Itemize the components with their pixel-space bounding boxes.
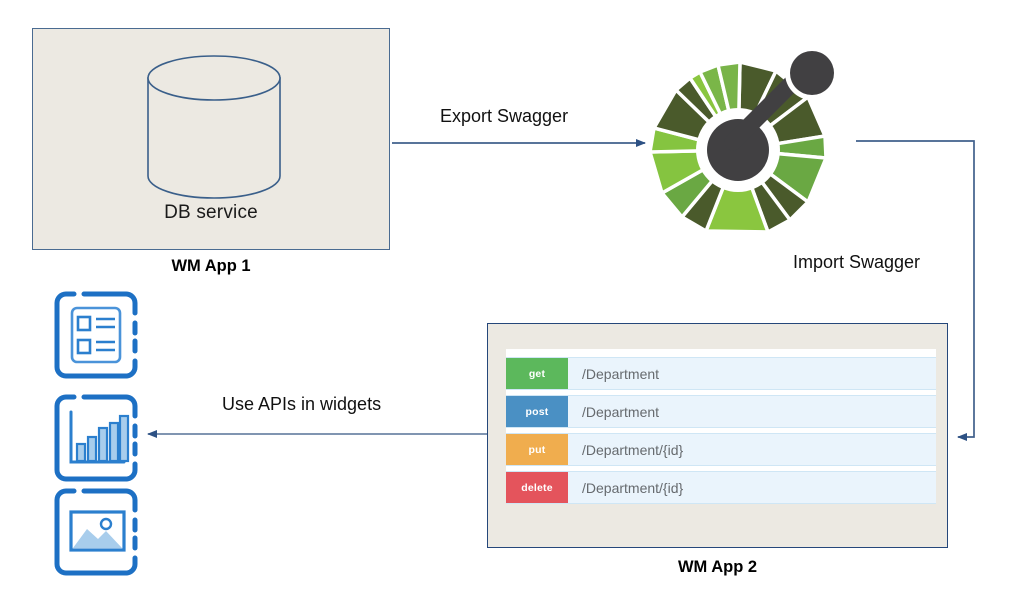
table-row[interactable]: get /Department [506,357,936,390]
method-badge: get [506,358,568,389]
table-row[interactable]: delete /Department/{id} [506,471,936,504]
method-badge: put [506,434,568,465]
wm-app-2-box: get /Department post /Department put /De… [487,323,948,548]
api-path: /Department [568,358,659,389]
method-badge: post [506,396,568,427]
wm-app-2-caption: WM App 2 [487,558,948,577]
table-row[interactable]: put /Department/{id} [506,433,936,466]
wm-app-1-caption: WM App 1 [32,257,390,276]
api-path: /Department/{id} [568,472,683,503]
diagram-canvas: DB service WM App 1 Export Swagger Impor… [0,0,1011,590]
use-apis-label: Use APIs in widgets [222,394,381,415]
list-widget-icon[interactable] [52,289,148,381]
export-swagger-label: Export Swagger [440,106,568,127]
api-path: /Department [568,396,659,427]
api-list-panel: get /Department post /Department put /De… [506,349,936,494]
method-badge: delete [506,472,568,503]
table-row[interactable]: post /Department [506,395,936,428]
chart-widget-icon[interactable] [52,392,148,484]
db-service-label: DB service [32,202,390,224]
api-path: /Department/{id} [568,434,683,465]
image-widget-icon[interactable] [52,486,148,578]
import-swagger-label: Import Swagger [793,252,920,273]
